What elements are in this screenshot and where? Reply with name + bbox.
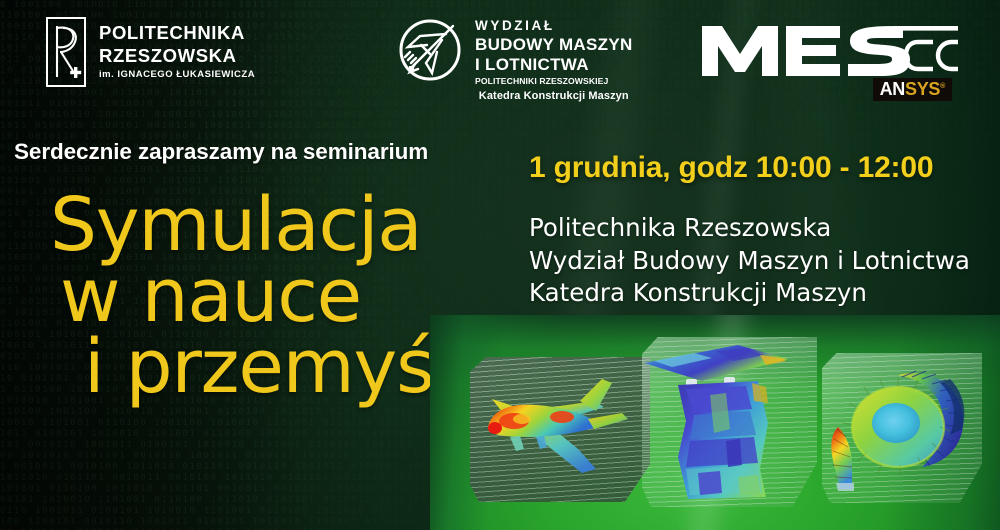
logo-politechnika-text: POLITECHNIKA RZESZOWSKA im. IGNACEGO ŁUK… [99,24,255,80]
ansys-an-text: AN [880,79,905,99]
simulation-image-aircraft-cfd [470,357,650,502]
logo-mesco: ANSYS® [700,20,962,106]
ansys-trademark-symbol: ® [940,83,945,90]
simulation-image-structural-fea [642,337,817,507]
seminar-title-line-1: Symulacja [50,190,490,261]
ansys-logo: ANSYS® [873,78,952,101]
invitation-line: Serdecznie zapraszamy na seminarium [14,139,428,165]
logo-wydzial-text: WYDZIAŁ BUDOWY MASZYN I LOTNICTWA POLITE… [475,16,633,102]
header-logo-bar: POLITECHNIKA RZESZOWSKA im. IGNACEGO ŁUK… [0,0,1000,112]
politechnika-line-3: im. IGNACEGO ŁUKASIEWICZA [99,70,255,80]
simulation-image-turbomachinery [822,353,982,503]
simulation-image-strip [430,315,1000,530]
seminar-title-line-2: w nauce [60,261,490,332]
wydzial-line-2: BUDOWY MASZYN [475,36,633,53]
logo-politechnika-rzeszowska: POLITECHNIKA RZESZOWSKA im. IGNACEGO ŁUK… [46,17,255,87]
event-location-line: Politechnika Rzeszowska [529,212,970,245]
mesco-wordmark-icon [700,20,958,82]
event-location-line: Katedra Konstrukcji Maszyn [529,277,970,310]
wydzial-line-4: POLITECHNIKI RZESZOWSKIEJ [475,77,633,86]
seminar-title: Symulacja w nauce i przemyśle [40,190,490,403]
wydzial-line-3: I LOTNICTWA [475,56,633,73]
wydzial-line-1: WYDZIAŁ [475,19,633,33]
event-location-line: Wydział Budowy Maszyn i Lotnictwa [529,245,970,278]
wydzial-line-5: Katedra Konstrukcji Maszyn [475,91,633,102]
airplane-in-circle-icon [396,16,464,84]
politechnika-line-1: POLITECHNIKA [99,24,255,43]
ansys-sys-text: SYS [905,79,940,99]
seminar-banner: 0 1001100 1010010 1101001 0110100 101101… [0,0,1000,530]
politechnika-line-2: RZESZOWSKA [99,47,255,66]
event-datetime: 1 grudnia, godz 10:00 - 12:00 [529,151,933,185]
politechnika-rzeszowska-emblem-icon [46,17,86,87]
logo-wydzial-budowy-maszyn: WYDZIAŁ BUDOWY MASZYN I LOTNICTWA POLITE… [396,16,633,102]
